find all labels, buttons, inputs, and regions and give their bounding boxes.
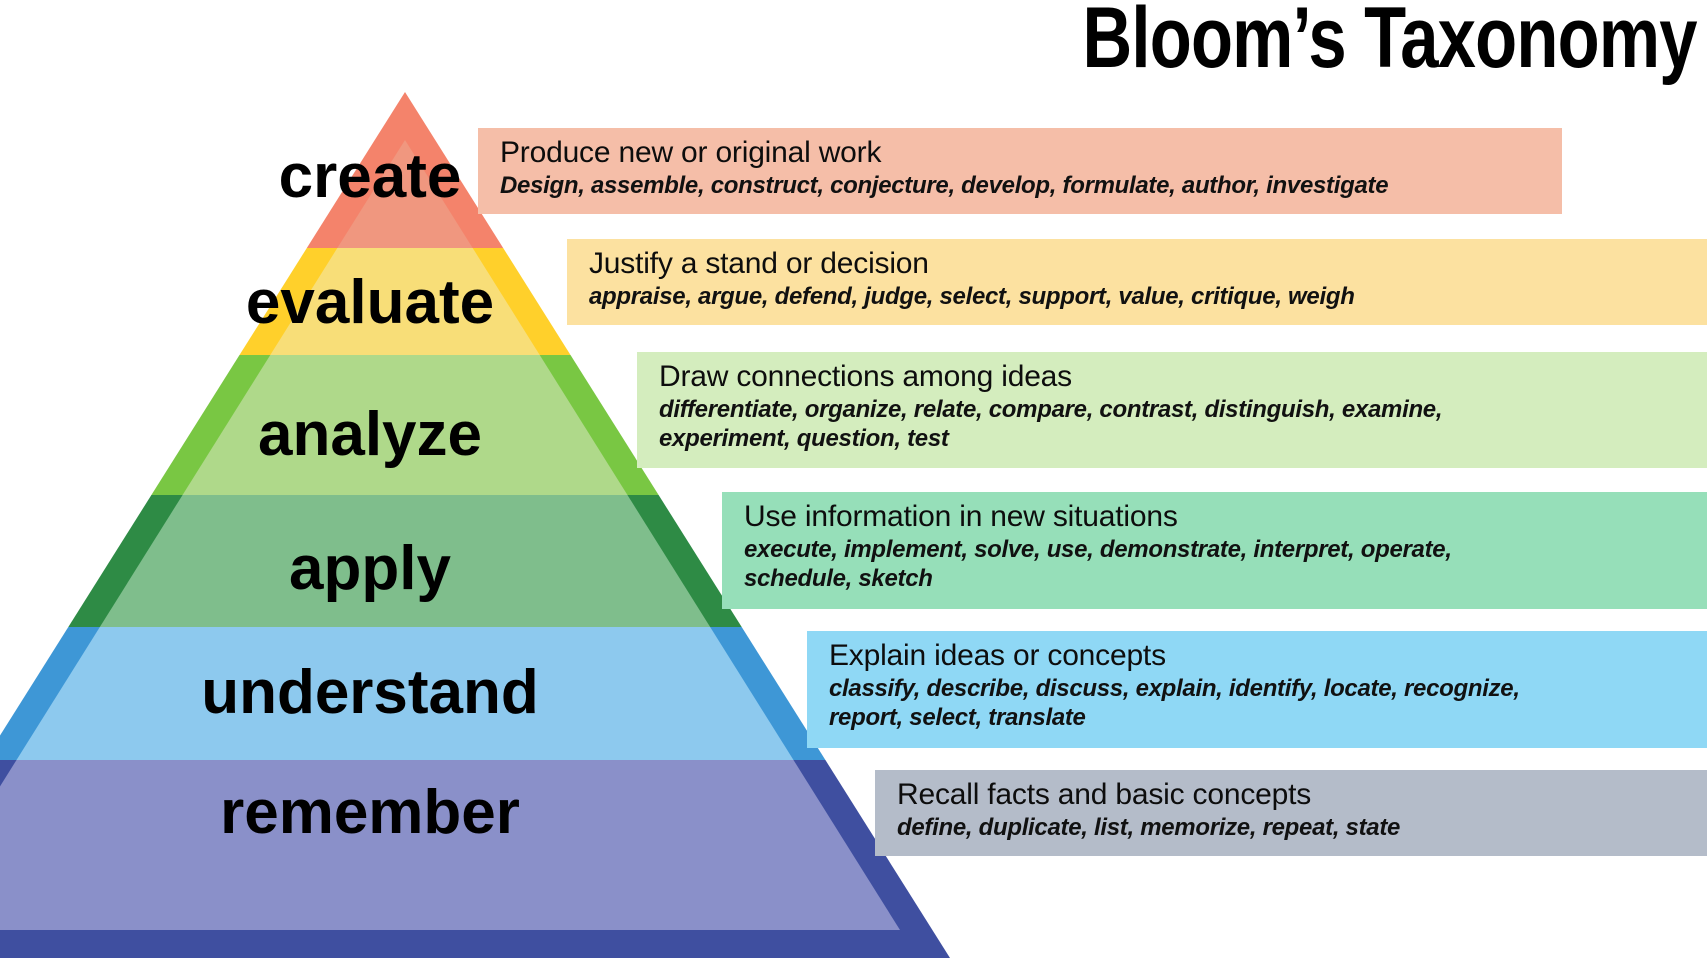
description-verbs-understand: classify, describe, discuss, explain, id…: [829, 674, 1589, 733]
description-verbs-analyze: differentiate, organize, relate, compare…: [659, 395, 1489, 454]
description-box-apply: Use information in new situations execut…: [722, 492, 1707, 609]
pyramid-label-evaluate: evaluate: [0, 272, 740, 334]
pyramid-label-apply: apply: [0, 538, 740, 600]
pyramid-label-understand: understand: [0, 662, 740, 724]
description-title-remember: Recall facts and basic concepts: [897, 778, 1707, 813]
description-box-analyze: Draw connections among ideas differentia…: [637, 352, 1707, 468]
page-title: Bloom’s Taxonomy: [1083, 0, 1697, 85]
description-title-apply: Use information in new situations: [744, 500, 1707, 535]
pyramid-label-create: create: [0, 146, 740, 208]
description-title-analyze: Draw connections among ideas: [659, 360, 1707, 395]
pyramid-label-analyze: analyze: [0, 404, 740, 466]
description-box-remember: Recall facts and basic concepts define, …: [875, 770, 1707, 856]
blooms-taxonomy-infographic: Bloom’s Taxonomy: [0, 0, 1707, 958]
description-verbs-apply: execute, implement, solve, use, demonstr…: [744, 535, 1504, 594]
description-verbs-evaluate: appraise, argue, defend, judge, select, …: [589, 282, 1689, 311]
description-title-evaluate: Justify a stand or decision: [589, 247, 1707, 282]
description-box-understand: Explain ideas or concepts classify, desc…: [807, 631, 1707, 748]
description-title-understand: Explain ideas or concepts: [829, 639, 1707, 674]
pyramid-label-remember: remember: [0, 782, 740, 844]
description-verbs-remember: define, duplicate, list, memorize, repea…: [897, 813, 1697, 842]
